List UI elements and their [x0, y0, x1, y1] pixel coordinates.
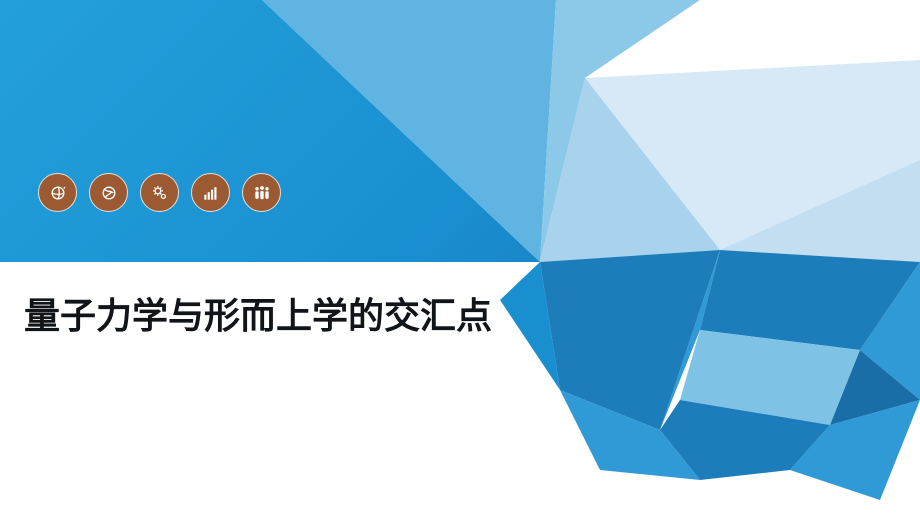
icon-badge-row	[38, 173, 281, 212]
gears-icon	[140, 173, 179, 212]
bar-chart-icon	[191, 173, 230, 212]
globe-arrow-icon	[38, 173, 77, 212]
slide-tagline: 数智创新 变革未来	[732, 27, 898, 54]
presentation-slide: 数智创新 变革未来	[0, 0, 920, 518]
decorative-polygon-artwork	[0, 0, 920, 518]
globe-icon	[89, 173, 128, 212]
people-group-icon	[242, 173, 281, 212]
page-title: 量子力学与形而上学的交汇点	[24, 292, 544, 340]
